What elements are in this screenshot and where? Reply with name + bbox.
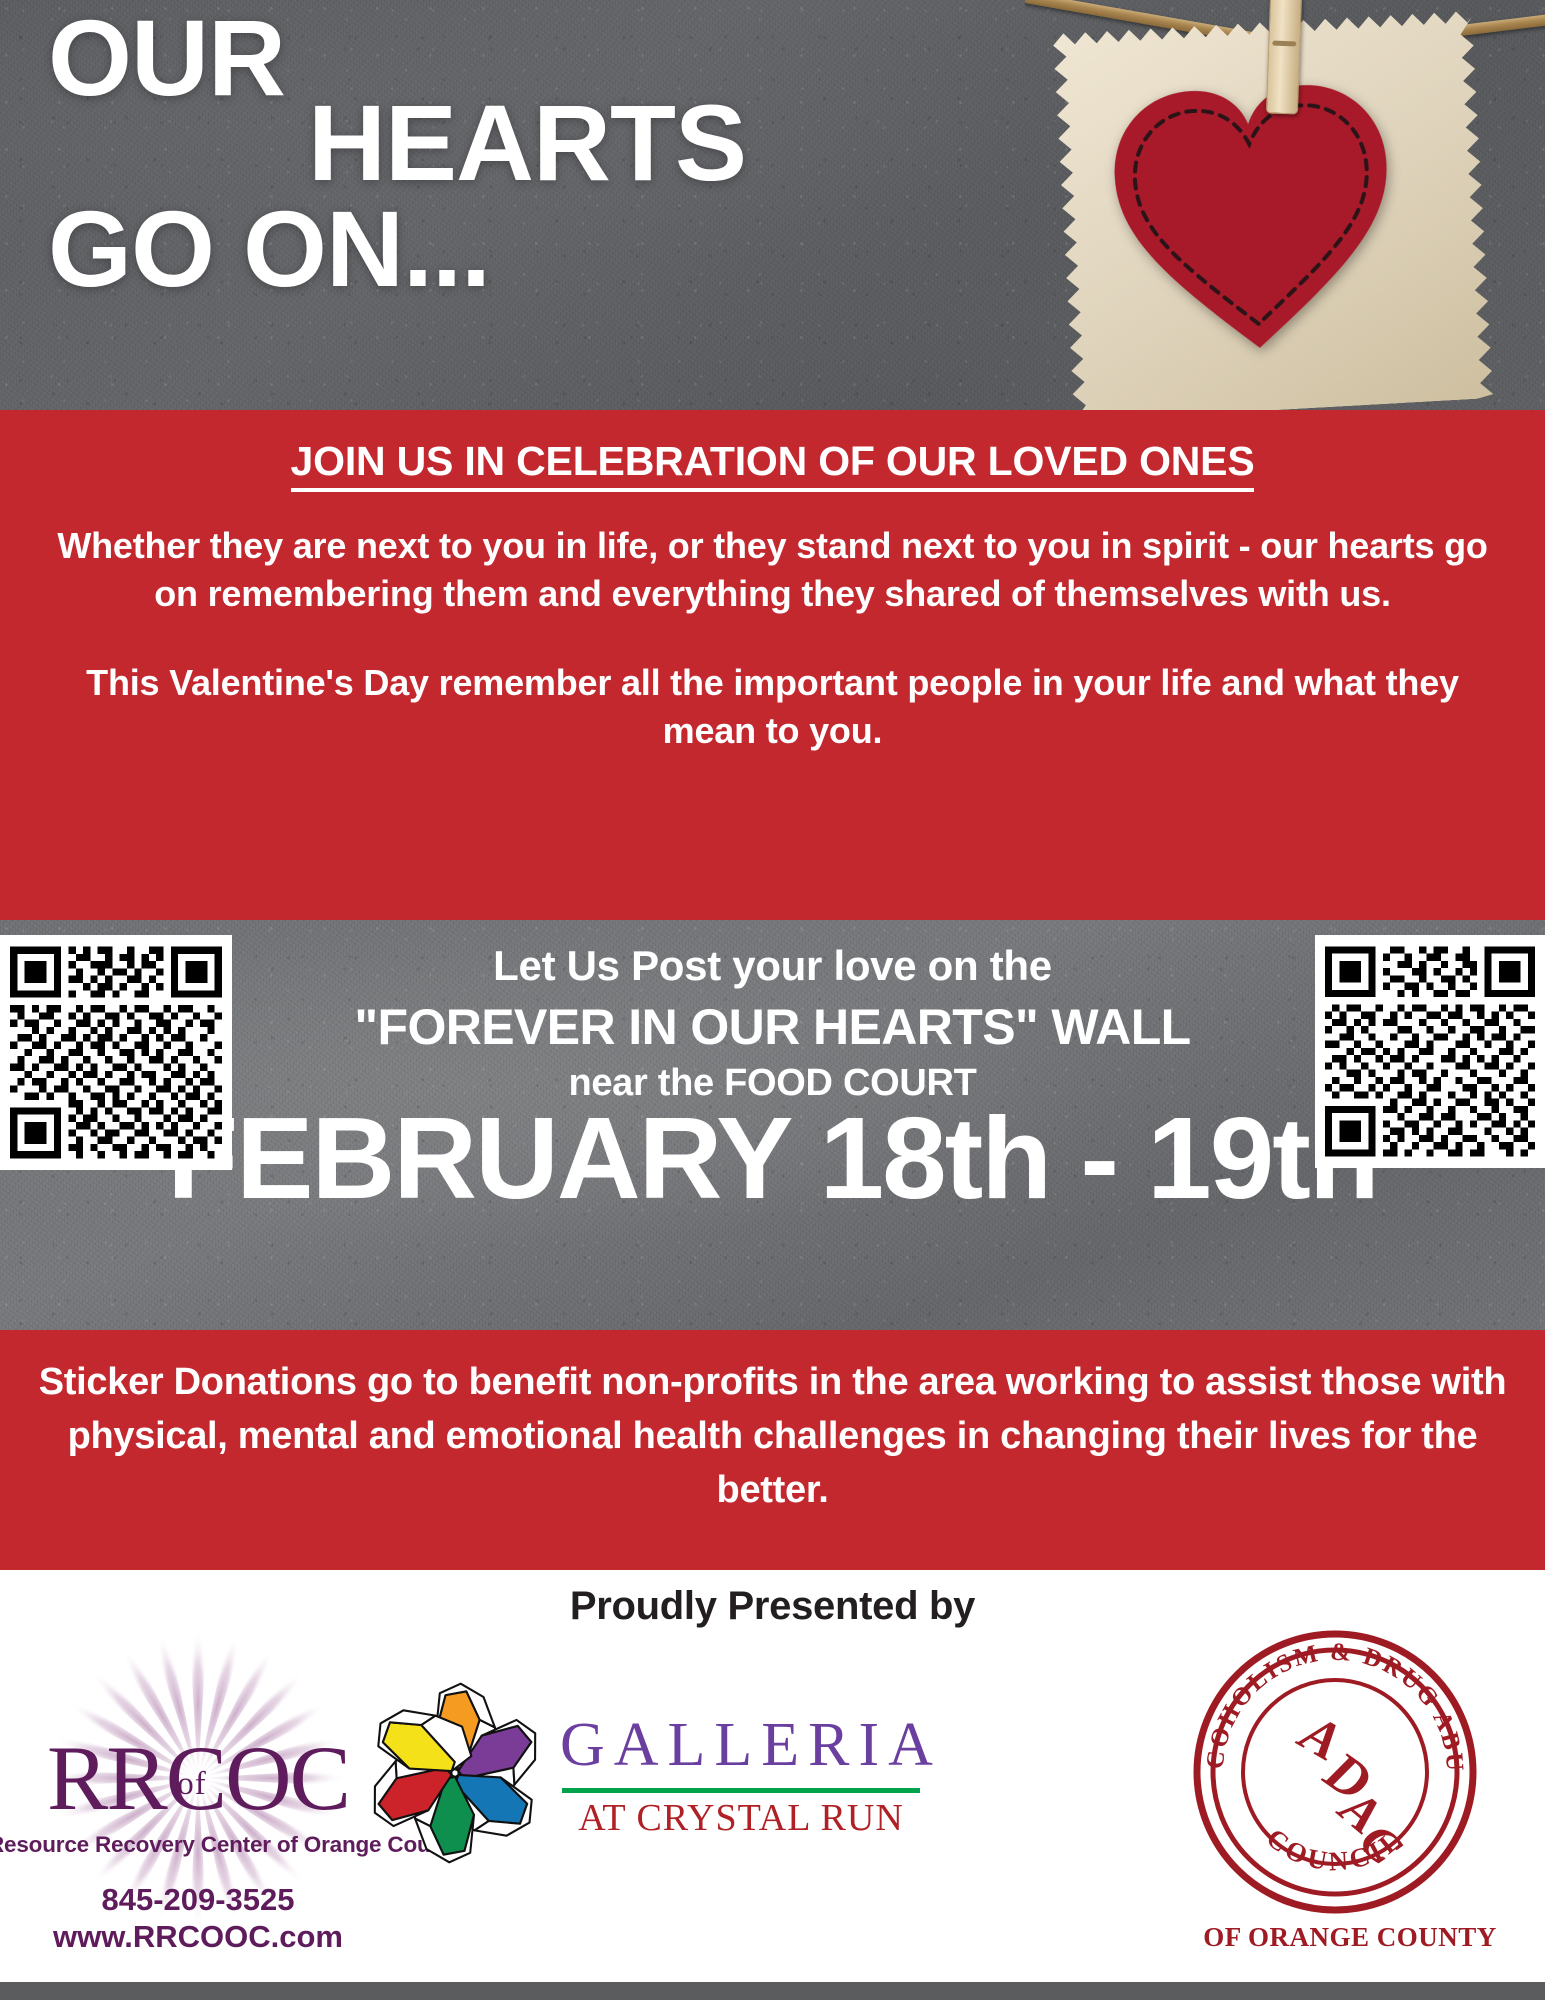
rrcooc-phone[interactable]: 845-209-3525 xyxy=(0,1882,408,1918)
donations-banner: Sticker Donations go to benefit non-prof… xyxy=(0,1330,1545,1570)
qr-code-left[interactable] xyxy=(0,935,232,1170)
sponsors-footer: Proudly Presented by xyxy=(0,1570,1545,1982)
galleria-wordmark: GALLERIA xyxy=(560,1714,942,1776)
title-line-3: GO ON... xyxy=(40,199,860,298)
celebration-banner: JOIN US IN CELEBRATION OF OUR LOVED ONES… xyxy=(0,410,1545,920)
qr-code-right[interactable] xyxy=(1315,935,1545,1168)
page-title: OUR HEARTS GO ON... xyxy=(40,8,860,298)
clothespin-icon xyxy=(1266,0,1302,115)
sponsor-logo-rrcooc: RRCOC of Resource Recovery Center of Ora… xyxy=(0,1614,408,1964)
wall-info-section: Let Us Post your love on the "FOREVER IN… xyxy=(0,920,1545,1330)
rrcooc-of-label: of xyxy=(177,1766,207,1803)
donations-paragraph: Sticker Donations go to benefit non-prof… xyxy=(36,1356,1509,1518)
rrcooc-website[interactable]: www.RRCOOC.com xyxy=(0,1919,408,1955)
felt-heart-icon xyxy=(1095,58,1410,373)
fabric-heart-photo xyxy=(1025,0,1545,410)
headline-wrap: JOIN US IN CELEBRATION OF OUR LOVED ONES xyxy=(34,438,1511,492)
celebration-paragraph-2: This Valentine's Day remember all the im… xyxy=(52,659,1493,754)
galleria-gem-pinwheel-icon xyxy=(360,1678,550,1868)
galleria-divider xyxy=(562,1788,920,1793)
adac-subtitle: OF ORANGE COUNTY xyxy=(1185,1922,1515,1953)
sponsor-logo-adac: ALCOHOLISM & DRUG ABUSE COUNCIL A D A C … xyxy=(1185,1622,1515,1972)
sponsor-logo-galleria: GALLERIA AT CRYSTAL RUN xyxy=(360,1660,930,1900)
galleria-tagline: AT CRYSTAL RUN xyxy=(560,1796,922,1840)
bottom-edge-bar xyxy=(0,1982,1545,2000)
rrcooc-name: Resource Recovery Center of Orange Count… xyxy=(0,1832,408,1858)
flyer-poster: OUR HEARTS GO ON... JOIN US IN CELEBRATI… xyxy=(0,0,1545,2000)
celebration-headline: JOIN US IN CELEBRATION OF OUR LOVED ONES xyxy=(291,438,1255,492)
hero-section: OUR HEARTS GO ON... xyxy=(0,0,1545,410)
celebration-paragraph-1: Whether they are next to you in life, or… xyxy=(52,522,1493,617)
